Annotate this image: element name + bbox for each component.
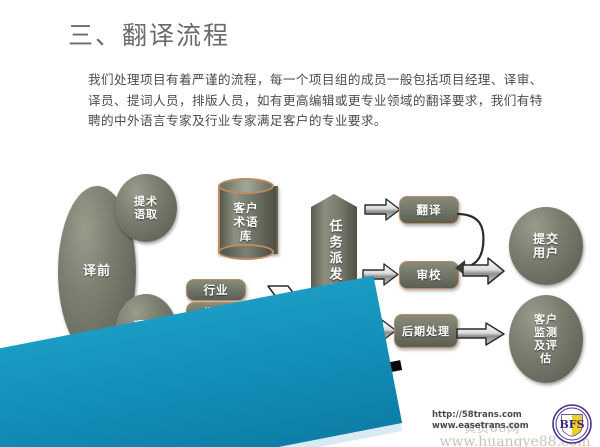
page-title: 三、翻译流程 xyxy=(68,16,230,52)
node-term-extraction-label: 术 取 提 语 xyxy=(134,195,158,222)
node-submit-to-user[interactable]: 提交 用户 xyxy=(509,207,583,285)
node-stage-review[interactable]: 审校 xyxy=(399,261,459,289)
node-client-monitoring-label: 客户 监测 及评 估 xyxy=(534,313,558,365)
cylinder-top xyxy=(218,178,274,194)
arrow-to-submit-icon xyxy=(462,256,506,286)
bfs-logo-text: BFS xyxy=(559,418,584,431)
arrow-to-translate-icon xyxy=(364,197,402,222)
node-term-extraction[interactable]: 术 取 提 语 xyxy=(115,174,177,242)
node-client-monitoring[interactable]: 客户 监测 及评 估 xyxy=(509,295,583,383)
monitor-line-2: 监测 xyxy=(534,326,558,339)
node-client-terminology-database-label: 客户 术语 库 xyxy=(218,194,274,250)
paragraph-line: 译员、提词人员，排版人员，如有更高编辑或更专业领域的翻译要求，我们有特 xyxy=(88,91,520,112)
monitor-line-4: 估 xyxy=(534,352,558,365)
arrow-to-monitor-icon xyxy=(456,321,506,347)
term-extract-c2-1: 术 xyxy=(146,195,158,209)
term-extract-c1-1: 提 xyxy=(134,195,146,209)
submit-line-2: 用户 xyxy=(533,246,559,260)
paragraph-line: 聘的中外语言专家及行业专家满足客户的专业要求。 xyxy=(88,111,520,132)
slide-canvas: 三、翻译流程 我们处理项目有着严谨的流程，每一个项目组的成员一般包括项目经理、译… xyxy=(0,0,600,447)
node-pre-translation-label: 译前 xyxy=(83,265,111,279)
db-line-2: 术语 xyxy=(234,215,259,229)
paragraph-line: 我们处理项目有着严谨的流程，每一个项目组的成员一般包括项目经理、译审、 xyxy=(88,70,520,91)
footer-url-2[interactable]: www.easetrans.com xyxy=(432,421,529,432)
db-line-3: 库 xyxy=(240,229,253,243)
intro-paragraph: 我们处理项目有着严谨的流程，每一个项目组的成员一般包括项目经理、译审、 译员、提… xyxy=(88,70,520,132)
node-stage-postprocess[interactable]: 后期处理 xyxy=(394,314,458,348)
node-client-terminology-database[interactable]: 客户 术语 库 xyxy=(218,178,274,262)
monitor-line-3: 及评 xyxy=(534,339,558,352)
submit-line-1: 提交 xyxy=(533,232,559,246)
db-line-1: 客户 xyxy=(234,201,259,215)
term-extract-c1-2: 语 xyxy=(134,208,146,222)
monitor-line-1: 客户 xyxy=(534,313,558,326)
term-extract-c2-2: 取 xyxy=(146,208,158,222)
node-submit-to-user-label: 提交 用户 xyxy=(533,232,559,260)
node-attribute-industry[interactable]: 行业 xyxy=(186,279,246,301)
footer-url-1[interactable]: http://58trans.com xyxy=(432,410,529,421)
node-stage-translate[interactable]: 翻译 xyxy=(399,196,459,224)
bfs-logo-icon: BFS xyxy=(552,404,592,444)
footer-urls: http://58trans.com www.easetrans.com xyxy=(432,410,529,432)
